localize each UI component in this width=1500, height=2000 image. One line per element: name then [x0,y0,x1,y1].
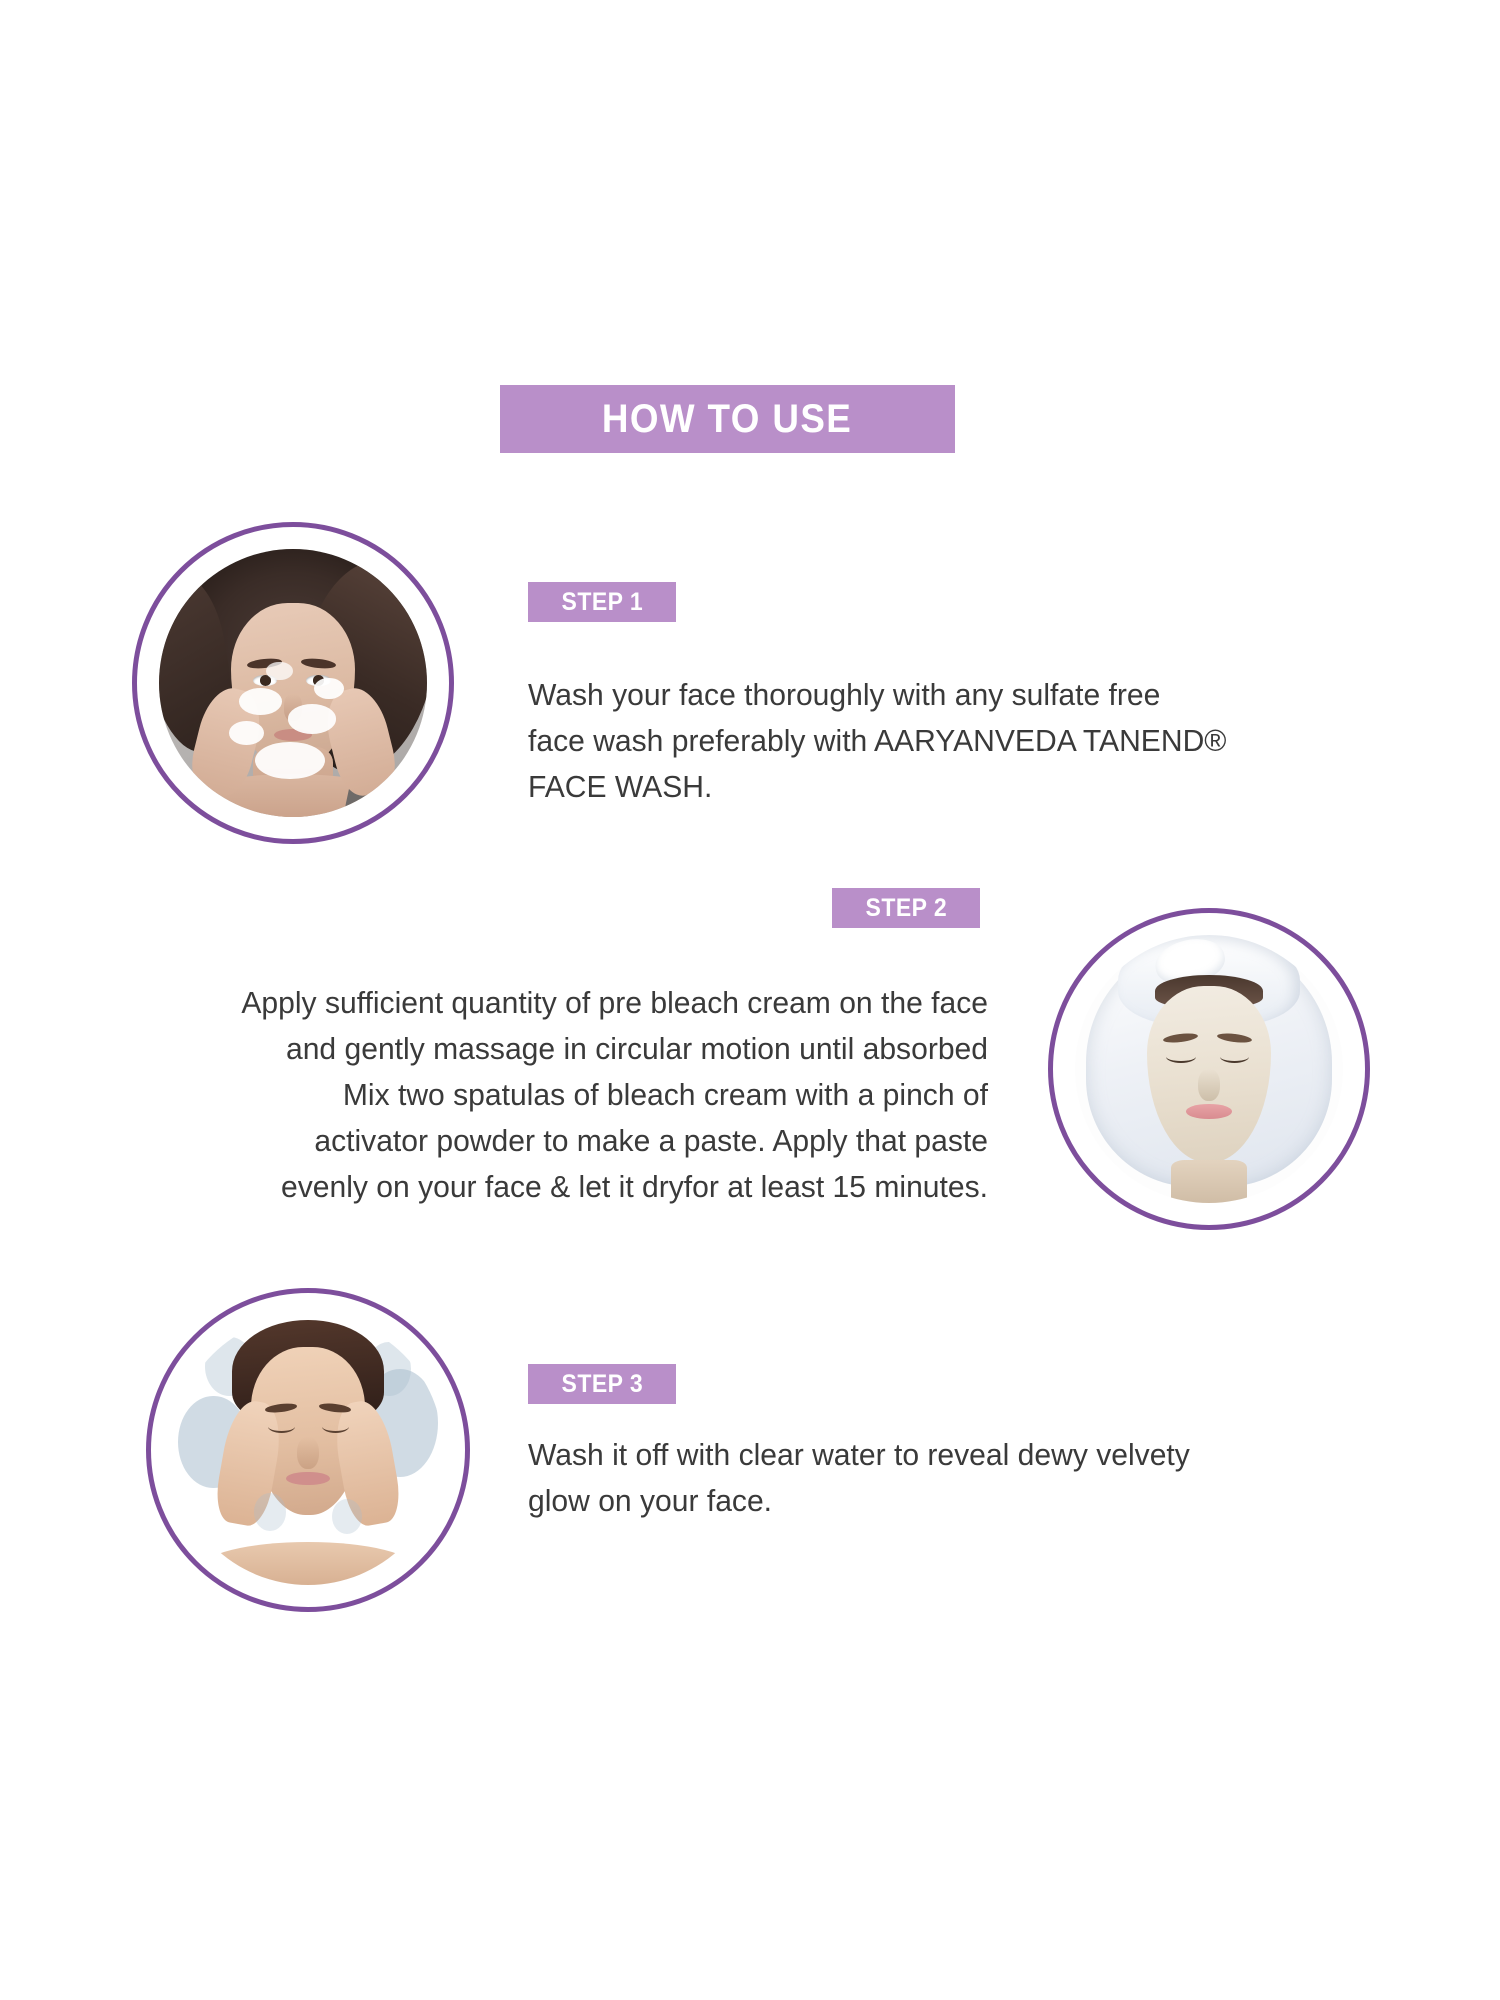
neck [1171,1160,1246,1203]
nose [1198,1069,1219,1101]
step-3-photo-image [173,1315,443,1585]
foam-blob [288,704,336,733]
nose [297,1437,319,1469]
closed-eye-left [1166,1050,1195,1063]
foam-blob [266,662,293,681]
lips [286,1472,329,1486]
closed-eye-right [1220,1050,1249,1063]
step-3-photo [146,1288,470,1612]
step-1-label-text: STEP 1 [561,588,643,617]
step-2-label: STEP 2 [832,888,980,928]
step-3-label: STEP 3 [528,1364,676,1404]
closed-eye-right [322,1420,349,1433]
step-1-photo [132,522,454,844]
step-2-label-text: STEP 2 [865,894,947,923]
how-to-use-infographic: HOW TO USE [0,0,1500,2000]
step-1-photo-image [159,549,427,817]
step-2-photo [1048,908,1370,1230]
foam-blob [314,678,343,699]
how-to-use-banner: HOW TO USE [500,385,955,453]
step-1-label: STEP 1 [528,582,676,622]
step-2-photo-image [1075,935,1343,1203]
closed-eye-left [268,1420,295,1433]
water-splash [332,1499,362,1534]
step-2-description: Apply sufficient quantity of pre bleach … [144,980,988,1210]
lips [1186,1104,1232,1119]
step-3-description: Wash it off with clear water to reveal d… [528,1432,1333,1524]
foam-blob [229,721,264,745]
step-3-label-text: STEP 3 [561,1370,643,1399]
step-1-description: Wash your face thoroughly with any sulfa… [528,672,1333,810]
page-title: HOW TO USE [602,397,852,442]
